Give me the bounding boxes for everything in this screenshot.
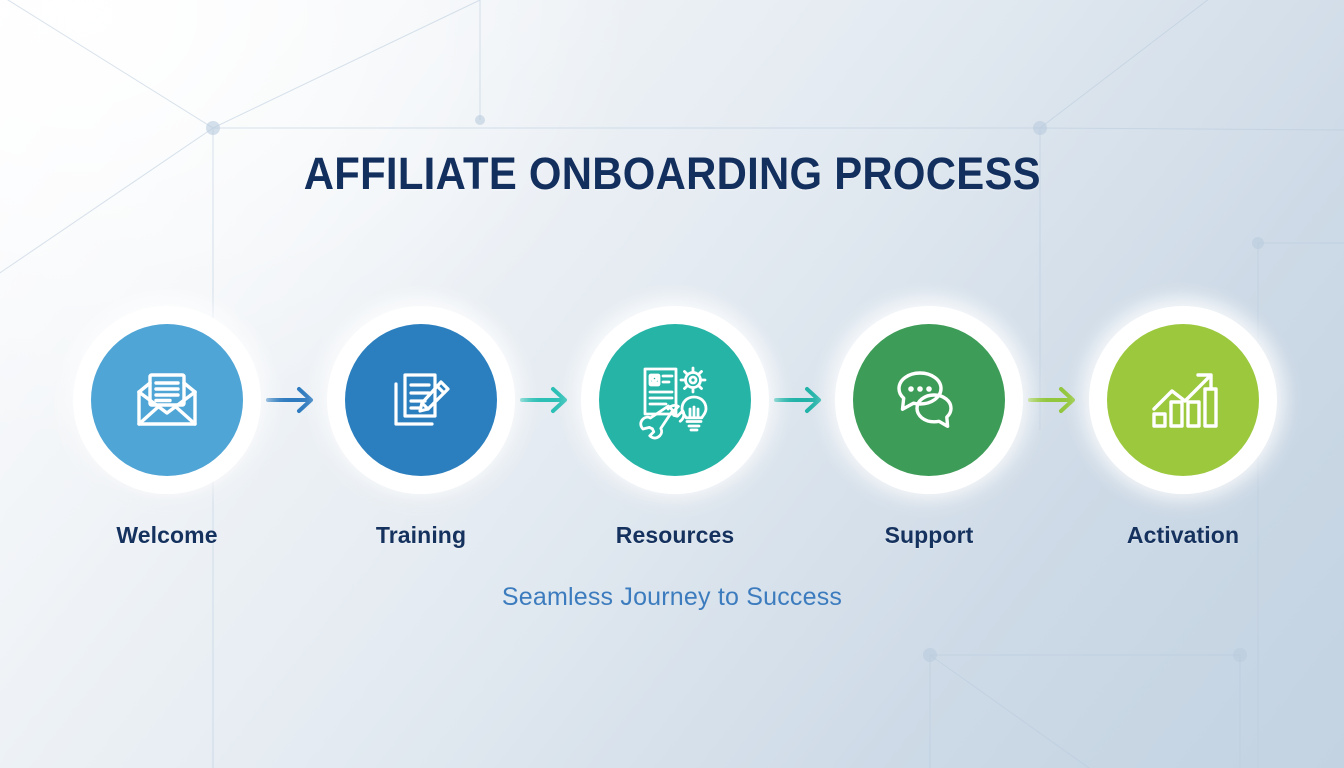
step-welcome-ring bbox=[73, 306, 261, 494]
step-training-ring bbox=[327, 306, 515, 494]
toolkit-gear-bulb-wrench-icon bbox=[632, 357, 718, 443]
step-activation[interactable]: Activation bbox=[1088, 306, 1278, 549]
step-training-disc bbox=[345, 324, 497, 476]
arrow-right-icon bbox=[266, 385, 322, 415]
step-resources[interactable]: Resources bbox=[580, 306, 770, 549]
step-support-label: Support bbox=[885, 522, 974, 549]
step-support-disc bbox=[853, 324, 1005, 476]
affiliate-onboarding-infographic: AFFILIATE ONBOARDING PROCESS bbox=[0, 0, 1344, 768]
process-steps-row: Welcome bbox=[72, 306, 1272, 549]
step-support[interactable]: Support bbox=[834, 306, 1024, 549]
subtitle-container: Seamless Journey to Success bbox=[0, 583, 1344, 612]
arrow-support-to-activation bbox=[1024, 306, 1088, 494]
arrow-welcome-to-training bbox=[262, 306, 326, 494]
arrow-resources-to-support bbox=[770, 306, 834, 494]
page-title: AFFILIATE ONBOARDING PROCESS bbox=[303, 148, 1040, 200]
step-activation-label: Activation bbox=[1127, 522, 1239, 549]
step-training-label: Training bbox=[376, 522, 466, 549]
growth-bar-chart-arrow-icon bbox=[1141, 358, 1225, 442]
step-resources-disc bbox=[599, 324, 751, 476]
step-activation-ring bbox=[1089, 306, 1277, 494]
page-subtitle: Seamless Journey to Success bbox=[0, 583, 1344, 612]
title-container: AFFILIATE ONBOARDING PROCESS bbox=[0, 148, 1344, 200]
step-training[interactable]: Training bbox=[326, 306, 516, 549]
step-support-ring bbox=[835, 306, 1023, 494]
arrow-right-icon bbox=[520, 385, 576, 415]
documents-pencil-icon bbox=[379, 358, 463, 442]
arrow-right-icon bbox=[774, 385, 830, 415]
step-resources-label: Resources bbox=[616, 522, 735, 549]
envelope-letter-icon bbox=[125, 358, 209, 442]
arrow-training-to-resources bbox=[516, 306, 580, 494]
step-welcome[interactable]: Welcome bbox=[72, 306, 262, 549]
step-activation-disc bbox=[1107, 324, 1259, 476]
step-resources-ring bbox=[581, 306, 769, 494]
step-welcome-disc bbox=[91, 324, 243, 476]
step-welcome-label: Welcome bbox=[116, 522, 217, 549]
chat-bubbles-icon bbox=[887, 358, 971, 442]
arrow-right-icon bbox=[1028, 385, 1084, 415]
